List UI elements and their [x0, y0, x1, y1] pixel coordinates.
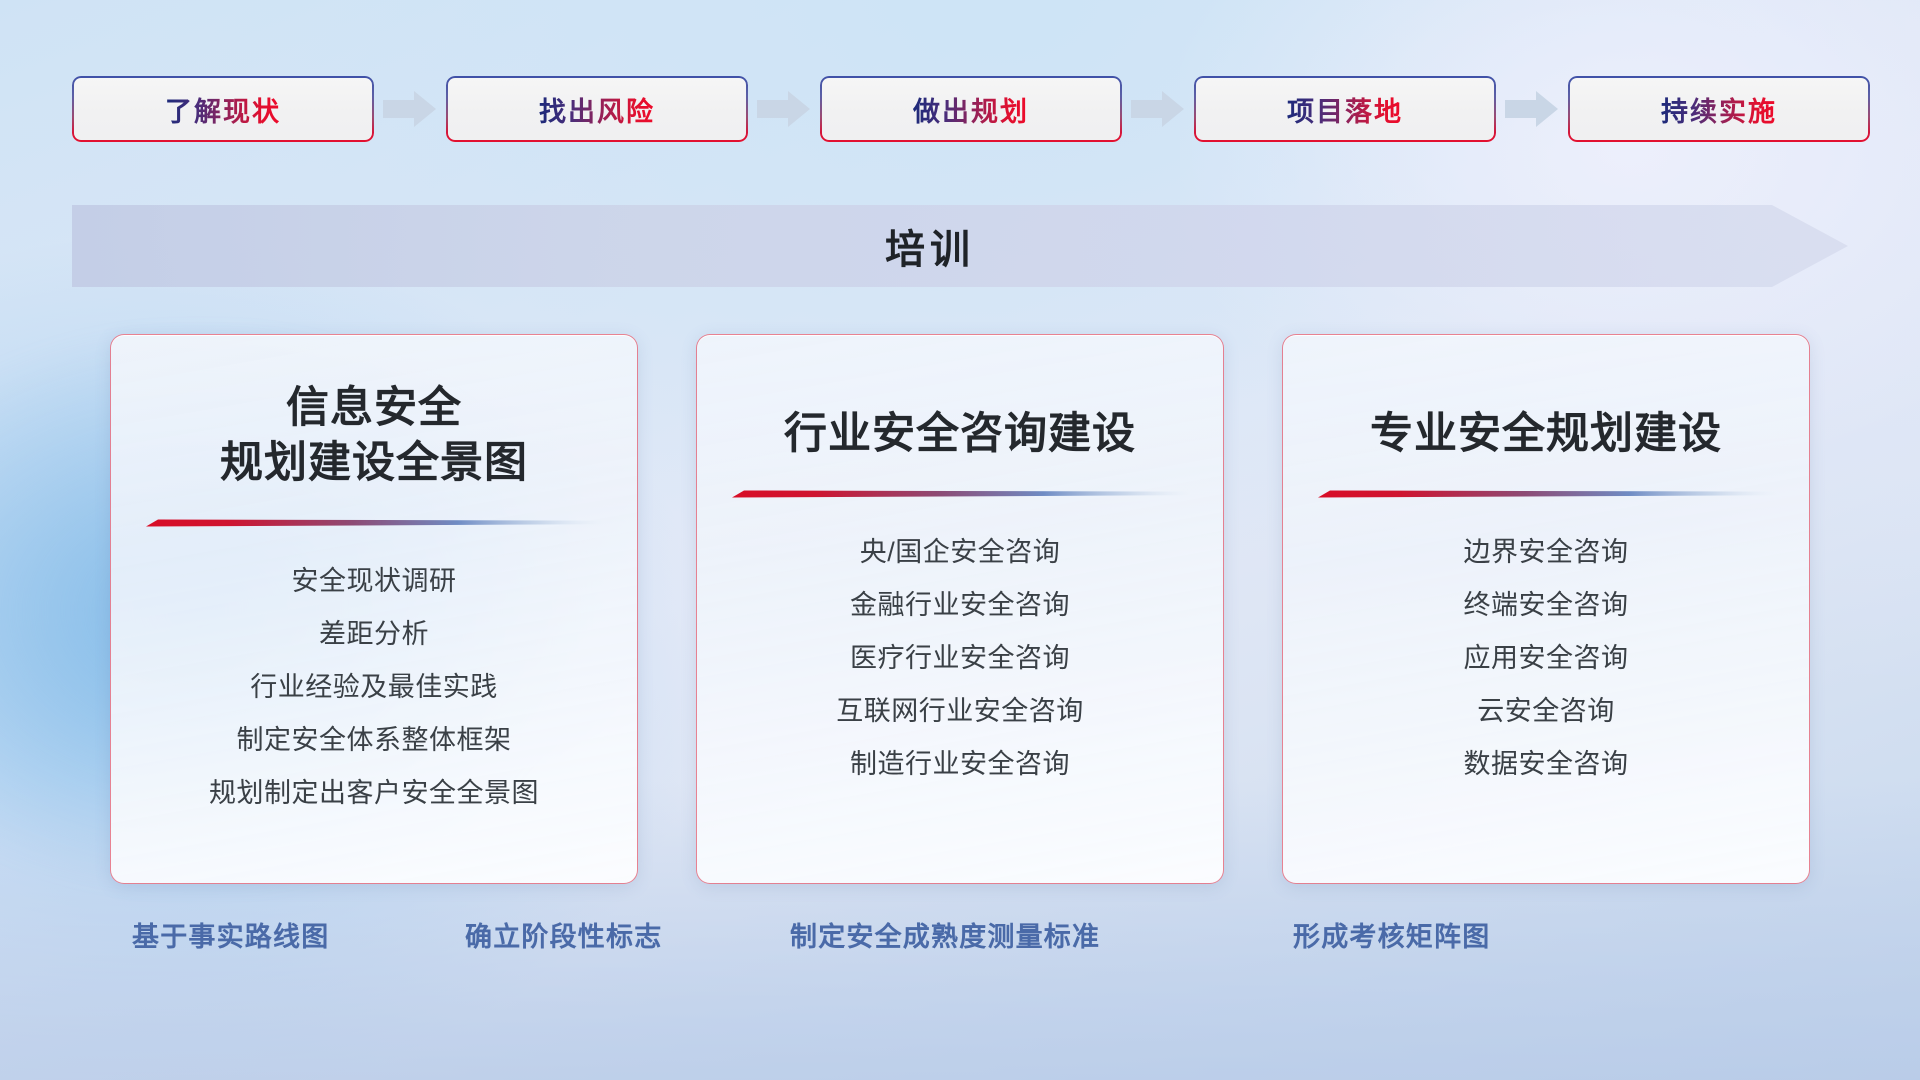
- step-arrow-1: [383, 89, 437, 129]
- list-item[interactable]: 终端安全咨询: [1283, 579, 1809, 632]
- card-3[interactable]: 专业安全规划建设边界安全咨询终端安全咨询应用安全咨询云安全咨询数据安全咨询: [1282, 334, 1810, 884]
- list-item[interactable]: 边界安全咨询: [1283, 526, 1809, 579]
- bottom-label-4: 形成考核矩阵图: [1293, 915, 1490, 954]
- bottom-label-3: 制定安全成熟度测量标准: [790, 915, 1100, 954]
- list-item[interactable]: 央/国企安全咨询: [697, 526, 1223, 579]
- list-item[interactable]: 规划制定出客户安全全景图: [111, 767, 637, 820]
- bottom-label-2: 确立阶段性标志: [465, 915, 662, 954]
- list-item[interactable]: 数据安全咨询: [1283, 738, 1809, 791]
- step-arrow-4: [1505, 89, 1559, 129]
- card-1[interactable]: 信息安全 规划建设全景图安全现状调研差距分析行业经验及最佳实践制定安全体系整体框…: [110, 334, 638, 884]
- list-item[interactable]: 安全现状调研: [111, 555, 637, 608]
- card-list-3: 边界安全咨询终端安全咨询应用安全咨询云安全咨询数据安全咨询: [1283, 526, 1809, 791]
- list-item[interactable]: 制定安全体系整体框架: [111, 714, 637, 767]
- step-arrow-3: [1131, 89, 1185, 129]
- step-box-2[interactable]: 找出风险: [446, 76, 748, 142]
- arrow-right-icon: [757, 89, 811, 129]
- card-2[interactable]: 行业安全咨询建设央/国企安全咨询金融行业安全咨询医疗行业安全咨询互联网行业安全咨…: [696, 334, 1224, 884]
- card-title-3: 专业安全规划建设: [1370, 407, 1722, 462]
- step-label-5: 持续实施: [1661, 90, 1777, 129]
- training-band: 培训: [72, 205, 1848, 287]
- list-item[interactable]: 应用安全咨询: [1283, 632, 1809, 685]
- step-arrow-2: [757, 89, 811, 129]
- step-label-3: 做出规划: [913, 90, 1029, 129]
- step-box-1[interactable]: 了解现状: [72, 76, 374, 142]
- step-box-3[interactable]: 做出规划: [820, 76, 1122, 142]
- card-divider-2: [730, 488, 1190, 500]
- list-item[interactable]: 制造行业安全咨询: [697, 738, 1223, 791]
- list-item[interactable]: 互联网行业安全咨询: [697, 685, 1223, 738]
- card-divider-3: [1316, 488, 1776, 500]
- card-list-2: 央/国企安全咨询金融行业安全咨询医疗行业安全咨询互联网行业安全咨询制造行业安全咨…: [697, 526, 1223, 791]
- card-title-2: 行业安全咨询建设: [784, 407, 1136, 462]
- training-label: 培训: [72, 205, 1848, 287]
- step-box-5[interactable]: 持续实施: [1568, 76, 1870, 142]
- card-row: 信息安全 规划建设全景图安全现状调研差距分析行业经验及最佳实践制定安全体系整体框…: [110, 334, 1810, 884]
- card-title-1: 信息安全 规划建设全景图: [220, 381, 528, 491]
- slide-canvas: 了解现状找出风险做出规划项目落地持续实施 培训 信息安全 规划建设全景图安全现状…: [0, 0, 1920, 1080]
- list-item[interactable]: 差距分析: [111, 608, 637, 661]
- step-label-4: 项目落地: [1287, 90, 1403, 129]
- list-item[interactable]: 医疗行业安全咨询: [697, 632, 1223, 685]
- card-list-1: 安全现状调研差距分析行业经验及最佳实践制定安全体系整体框架规划制定出客户安全全景…: [111, 555, 637, 820]
- list-item[interactable]: 行业经验及最佳实践: [111, 661, 637, 714]
- list-item[interactable]: 金融行业安全咨询: [697, 579, 1223, 632]
- arrow-right-icon: [383, 89, 437, 129]
- step-label-2: 找出风险: [539, 90, 655, 129]
- bottom-label-row: 基于事实路线图确立阶段性标志制定安全成熟度测量标准形成考核矩阵图: [0, 915, 1920, 961]
- arrow-right-icon: [1131, 89, 1185, 129]
- step-box-4[interactable]: 项目落地: [1194, 76, 1496, 142]
- arrow-right-icon: [1505, 89, 1559, 129]
- process-step-row: 了解现状找出风险做出规划项目落地持续实施: [72, 76, 1848, 142]
- card-divider-1: [144, 517, 604, 529]
- list-item[interactable]: 云安全咨询: [1283, 685, 1809, 738]
- bottom-label-1: 基于事实路线图: [132, 915, 329, 954]
- step-label-1: 了解现状: [165, 90, 281, 129]
